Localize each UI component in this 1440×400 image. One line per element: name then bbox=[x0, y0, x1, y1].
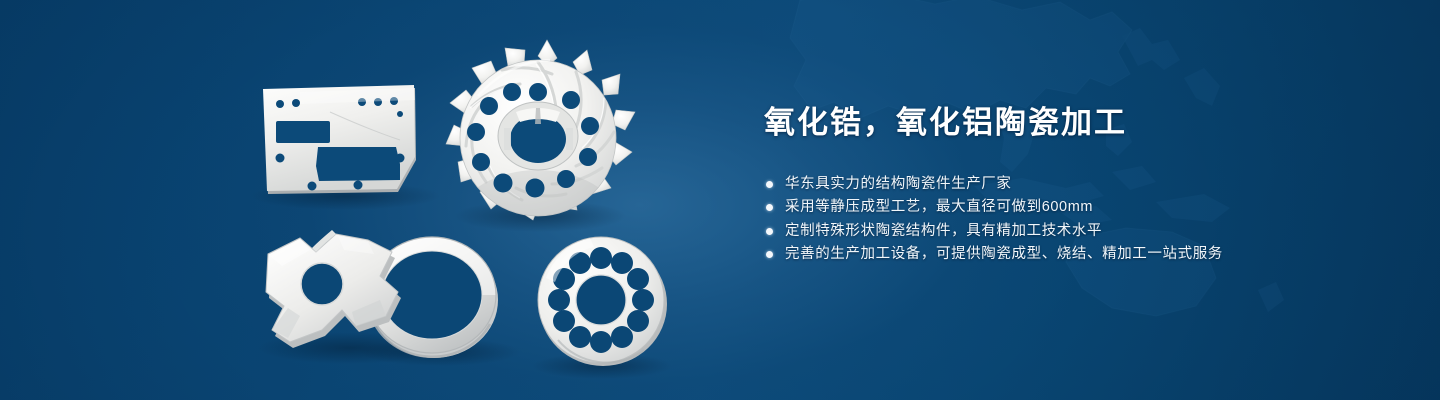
bullet-dot-icon bbox=[766, 251, 773, 258]
feature-list: 华东具实力的结构陶瓷件生产厂家 采用等静压成型工艺，最大直径可做到600mm 定… bbox=[764, 173, 1384, 267]
page-title: 氧化锆，氧化铝陶瓷加工 bbox=[764, 104, 1384, 143]
list-item-label: 华东具实力的结构陶瓷件生产厂家 bbox=[785, 176, 1012, 192]
product-photo-cluster bbox=[0, 0, 760, 400]
list-item: 完善的生产加工设备，可提供陶瓷成型、烧结、精加工一站式服务 bbox=[764, 243, 1384, 266]
list-item: 定制特殊形状陶瓷结构件，具有精加工技术水平 bbox=[764, 220, 1384, 243]
promo-banner: 氧化锆，氧化铝陶瓷加工 华东具实力的结构陶瓷件生产厂家 采用等静压成型工艺，最大… bbox=[0, 0, 1440, 400]
list-item-label: 定制特殊形状陶瓷结构件，具有精加工技术水平 bbox=[785, 223, 1102, 239]
list-item-label: 完善的生产加工设备，可提供陶瓷成型、烧结、精加工一站式服务 bbox=[785, 246, 1223, 262]
list-item: 华东具实力的结构陶瓷件生产厂家 bbox=[764, 173, 1384, 196]
banner-copy: 氧化锆，氧化铝陶瓷加工 华东具实力的结构陶瓷件生产厂家 采用等静压成型工艺，最大… bbox=[764, 104, 1384, 267]
ceramic-perforated-disc bbox=[538, 237, 667, 366]
bullet-dot-icon bbox=[766, 204, 773, 211]
list-item: 采用等静压成型工艺，最大直径可做到600mm bbox=[764, 196, 1384, 219]
bullet-dot-icon bbox=[766, 181, 773, 188]
bullet-dot-icon bbox=[766, 228, 773, 235]
ceramic-machined-plate bbox=[263, 85, 416, 194]
list-item-label: 采用等静压成型工艺，最大直径可做到600mm bbox=[785, 199, 1093, 215]
